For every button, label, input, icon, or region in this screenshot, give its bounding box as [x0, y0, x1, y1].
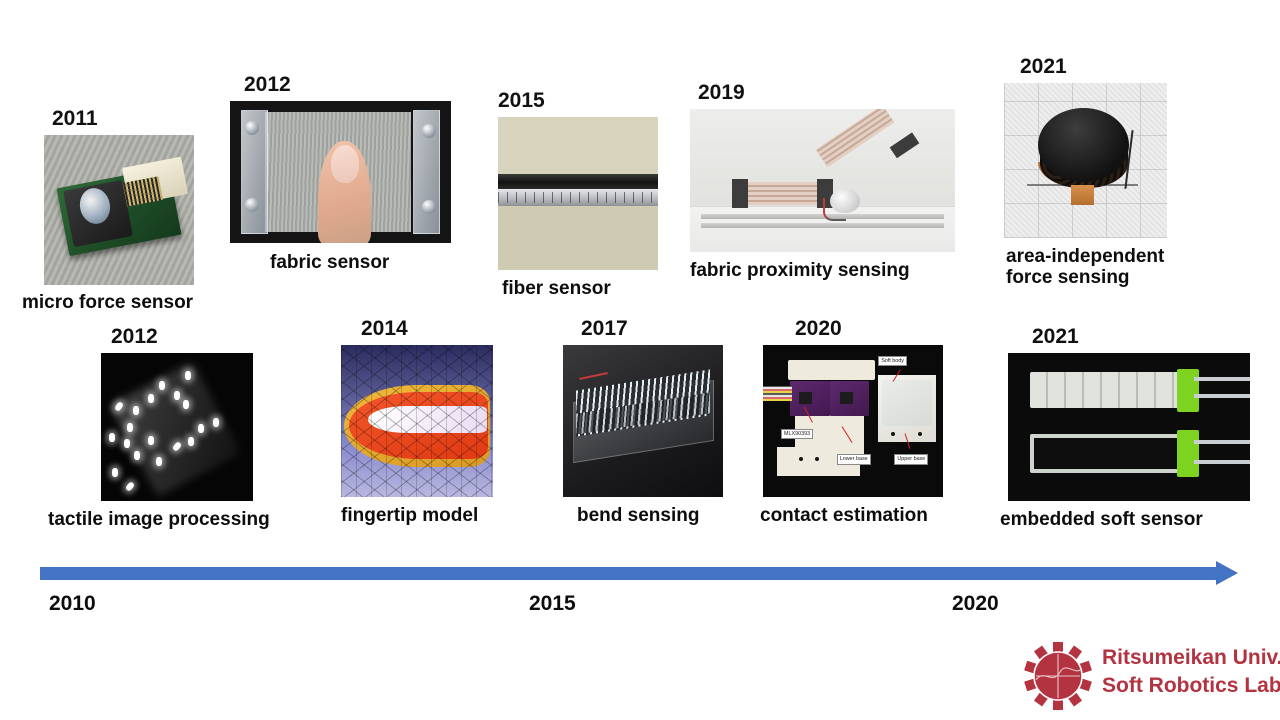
photo-contact-estimation: Soft body MLX90393 Lower base Upper base [763, 345, 943, 497]
mlx90393-chip [799, 392, 812, 404]
entry-caption: fiber sensor [502, 279, 658, 300]
timeline-tick-2010: 2010 [49, 592, 96, 616]
entry-caption: micro force sensor [22, 293, 194, 314]
fabric-segment [743, 182, 823, 205]
callout-soft-body: Soft body [878, 356, 907, 366]
timeline-entry-2011: 2011 micro force sensor [22, 108, 194, 314]
lead-wire [1194, 377, 1250, 381]
timeline-bar [40, 567, 1218, 580]
timeline-entry-2012-tactile: 2012 tactile image processing [48, 326, 270, 531]
silicone-strip-top [1030, 372, 1185, 408]
fabric-segment [816, 109, 894, 168]
screw [422, 200, 436, 214]
timeline-entry-2012-fabric: 2012 fabric sensor [230, 74, 451, 274]
timeline-entry-2019: 2019 fabric proximity sensing [690, 82, 955, 282]
tactile-marker [134, 451, 140, 460]
entry-year: 2017 [581, 318, 723, 339]
entry-year: 2019 [698, 82, 955, 103]
copper-tab [1071, 185, 1094, 205]
ruler-ticks [498, 192, 658, 203]
tactile-marker [198, 424, 204, 433]
lower-base-body [788, 360, 874, 380]
green-clip [1177, 430, 1199, 477]
tactile-marker [125, 481, 135, 492]
timeline-entry-2021-embedded: 2021 embedded soft sensor [1000, 326, 1250, 531]
timeline-entry-2015: 2015 fiber sensor [498, 90, 658, 300]
optical-fiber [498, 174, 658, 189]
entry-year: 2021 [1020, 56, 1206, 77]
entry-caption: tactile image processing [48, 510, 270, 531]
logo-text: Ritsumeikan Univ. Soft Robotics Lab. [1102, 644, 1280, 699]
lead-wire [1194, 394, 1250, 398]
wiring [823, 198, 847, 221]
photo-fabric-proximity-sensing [690, 109, 955, 252]
joint-block [732, 179, 748, 208]
logo-line-2: Soft Robotics Lab. [1102, 672, 1280, 700]
entry-caption: embedded soft sensor [1000, 510, 1250, 531]
logo-line-1: Ritsumeikan Univ. [1102, 644, 1280, 672]
tactile-marker [185, 371, 191, 380]
fingernail [331, 145, 360, 183]
silicone-strip-bottom [1030, 434, 1185, 472]
tactile-marker [174, 391, 180, 400]
black-disk [1038, 108, 1129, 182]
entry-year: 2012 [111, 326, 270, 347]
tactile-marker [148, 394, 154, 403]
tactile-marker [112, 468, 118, 477]
tactile-marker [109, 433, 115, 442]
callout-mlx90393: MLX90393 [781, 429, 813, 439]
tactile-marker [159, 381, 165, 390]
photo-area-independent-force-sensing [1004, 83, 1167, 238]
callout-lower-base: Lower base [837, 454, 871, 464]
timeline-entry-2014: 2014 fingertip model [341, 318, 493, 527]
screw [422, 124, 436, 138]
photo-micro-force-sensor [44, 135, 194, 285]
lab-logo: Ritsumeikan Univ. Soft Robotics Lab. [1022, 638, 1274, 714]
timeline-arrowhead [1216, 561, 1238, 585]
mount-hole [918, 432, 922, 436]
entry-year: 2014 [361, 318, 493, 339]
entry-caption: fabric proximity sensing [690, 261, 955, 282]
tactile-marker [148, 436, 154, 445]
tactile-marker [133, 406, 139, 415]
entry-caption: fingertip model [341, 506, 493, 527]
timeline-entry-2017: 2017 bend sensing [563, 318, 723, 527]
lead-wire [579, 372, 608, 380]
lead-wire [1194, 460, 1250, 464]
entry-year: 2021 [1032, 326, 1250, 347]
entry-year: 2011 [52, 108, 194, 129]
photo-bend-sensing [563, 345, 723, 497]
timeline-tick-2015: 2015 [529, 592, 576, 616]
tactile-marker [127, 423, 133, 432]
timeline-entry-2020: 2020 Soft body MLX90393 Lower base [763, 318, 943, 527]
entry-caption: contact estimation [760, 506, 943, 527]
timeline-entry-2021-force: 2021 area-independent force sensing [1004, 56, 1206, 288]
tactile-marker [124, 439, 130, 448]
photo-fiber-sensor [498, 117, 658, 270]
entry-caption: fabric sensor [270, 253, 451, 274]
screw [245, 198, 259, 212]
ritsumeikan-gear-icon [1022, 642, 1094, 710]
tactile-marker [156, 457, 162, 466]
entry-year: 2020 [795, 318, 943, 339]
entry-year: 2015 [498, 90, 658, 111]
joint-block [890, 133, 919, 158]
tactile-marker [188, 437, 194, 446]
rail [701, 214, 945, 219]
photo-fabric-sensor [230, 101, 451, 243]
photo-fingertip-model [341, 345, 493, 497]
lead-wire [1194, 440, 1250, 444]
callout-upper-base: Upper base [894, 454, 928, 464]
mlx90393-chip [840, 392, 853, 404]
entry-caption: area-independent force sensing [1006, 247, 1206, 288]
entry-year: 2012 [244, 74, 451, 95]
rail [701, 223, 945, 228]
ribbon-cable [763, 386, 792, 401]
mount-hole [891, 432, 895, 436]
soft-body-pad [882, 380, 932, 426]
tactile-marker [183, 400, 189, 409]
photo-embedded-soft-sensor [1008, 353, 1250, 501]
timeline-tick-2020: 2020 [952, 592, 999, 616]
photo-tactile-image-processing [101, 353, 253, 501]
slide-canvas: 2011 micro force sensor 2012 fabric sens… [0, 0, 1280, 720]
timeline-arrow [40, 561, 1240, 585]
entry-caption: bend sensing [577, 506, 723, 527]
fem-mesh [341, 345, 493, 497]
